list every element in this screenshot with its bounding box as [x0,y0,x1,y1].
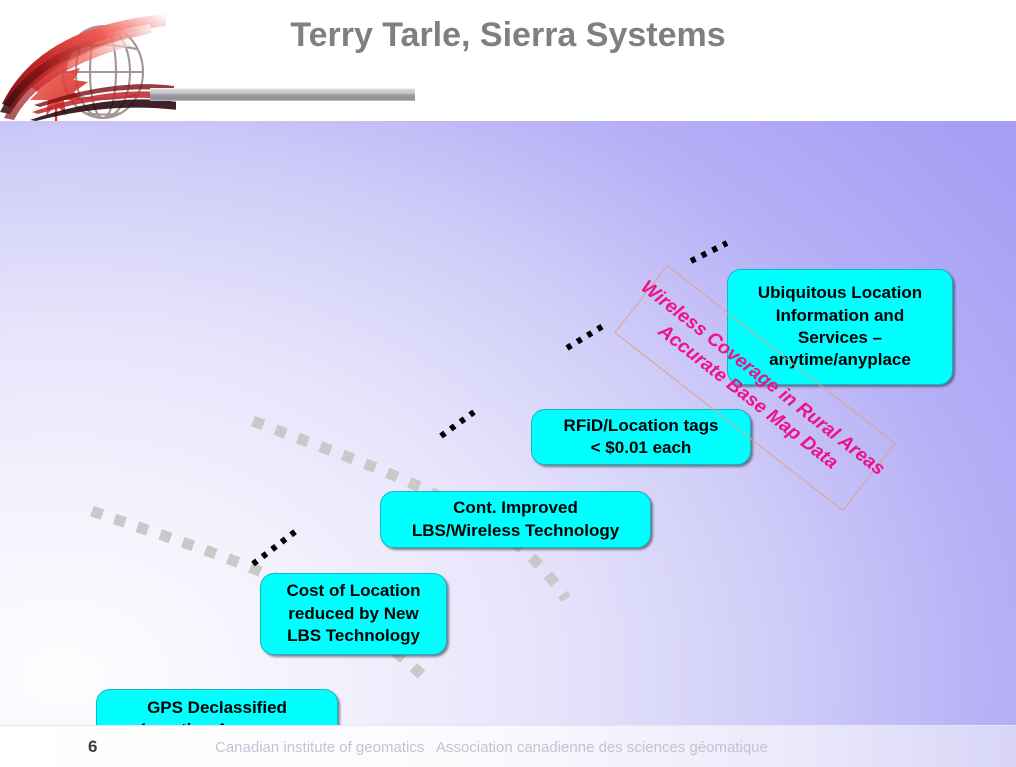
diagram-box-continued-improvement[interactable]: Cont. Improved LBS/Wireless Technology [380,491,651,548]
connector-cont-to-rfid [567,326,603,348]
diagram-box-cost-of-location[interactable]: Cost of Location reduced by New LBS Tech… [260,573,447,655]
grey-dashed-curves [0,121,1016,725]
slide-footer: 6 Canadian institute of geomatics Associ… [0,725,1016,767]
connector-rfid-to-ubiquitous [691,243,727,261]
diagram-box-rfid[interactable]: RFiD/Location tags < $0.01 each [531,409,751,465]
connector-gps-to-cost [253,531,296,564]
diagram-box-gps-declassified[interactable]: GPS Declassified Location Accuracy Impro… [96,689,338,725]
slide-body: Ubiquitous Location Information and Serv… [0,121,1016,725]
page-title: Terry Tarle, Sierra Systems [0,16,1016,55]
footer-organization: Canadian institute of geomatics Associat… [215,739,768,756]
page-number: 6 [88,737,97,757]
header-rule-bar [150,88,415,101]
diagram-box-ubiquitous[interactable]: Ubiquitous Location Information and Serv… [727,269,953,385]
slide-header: Terry Tarle, Sierra Systems [0,0,1016,121]
dotted-connector-arrows [0,121,1016,725]
slide: Terry Tarle, Sierra Systems Ubiquitous L… [0,0,1016,767]
connector-cost-to-cont [441,412,474,436]
